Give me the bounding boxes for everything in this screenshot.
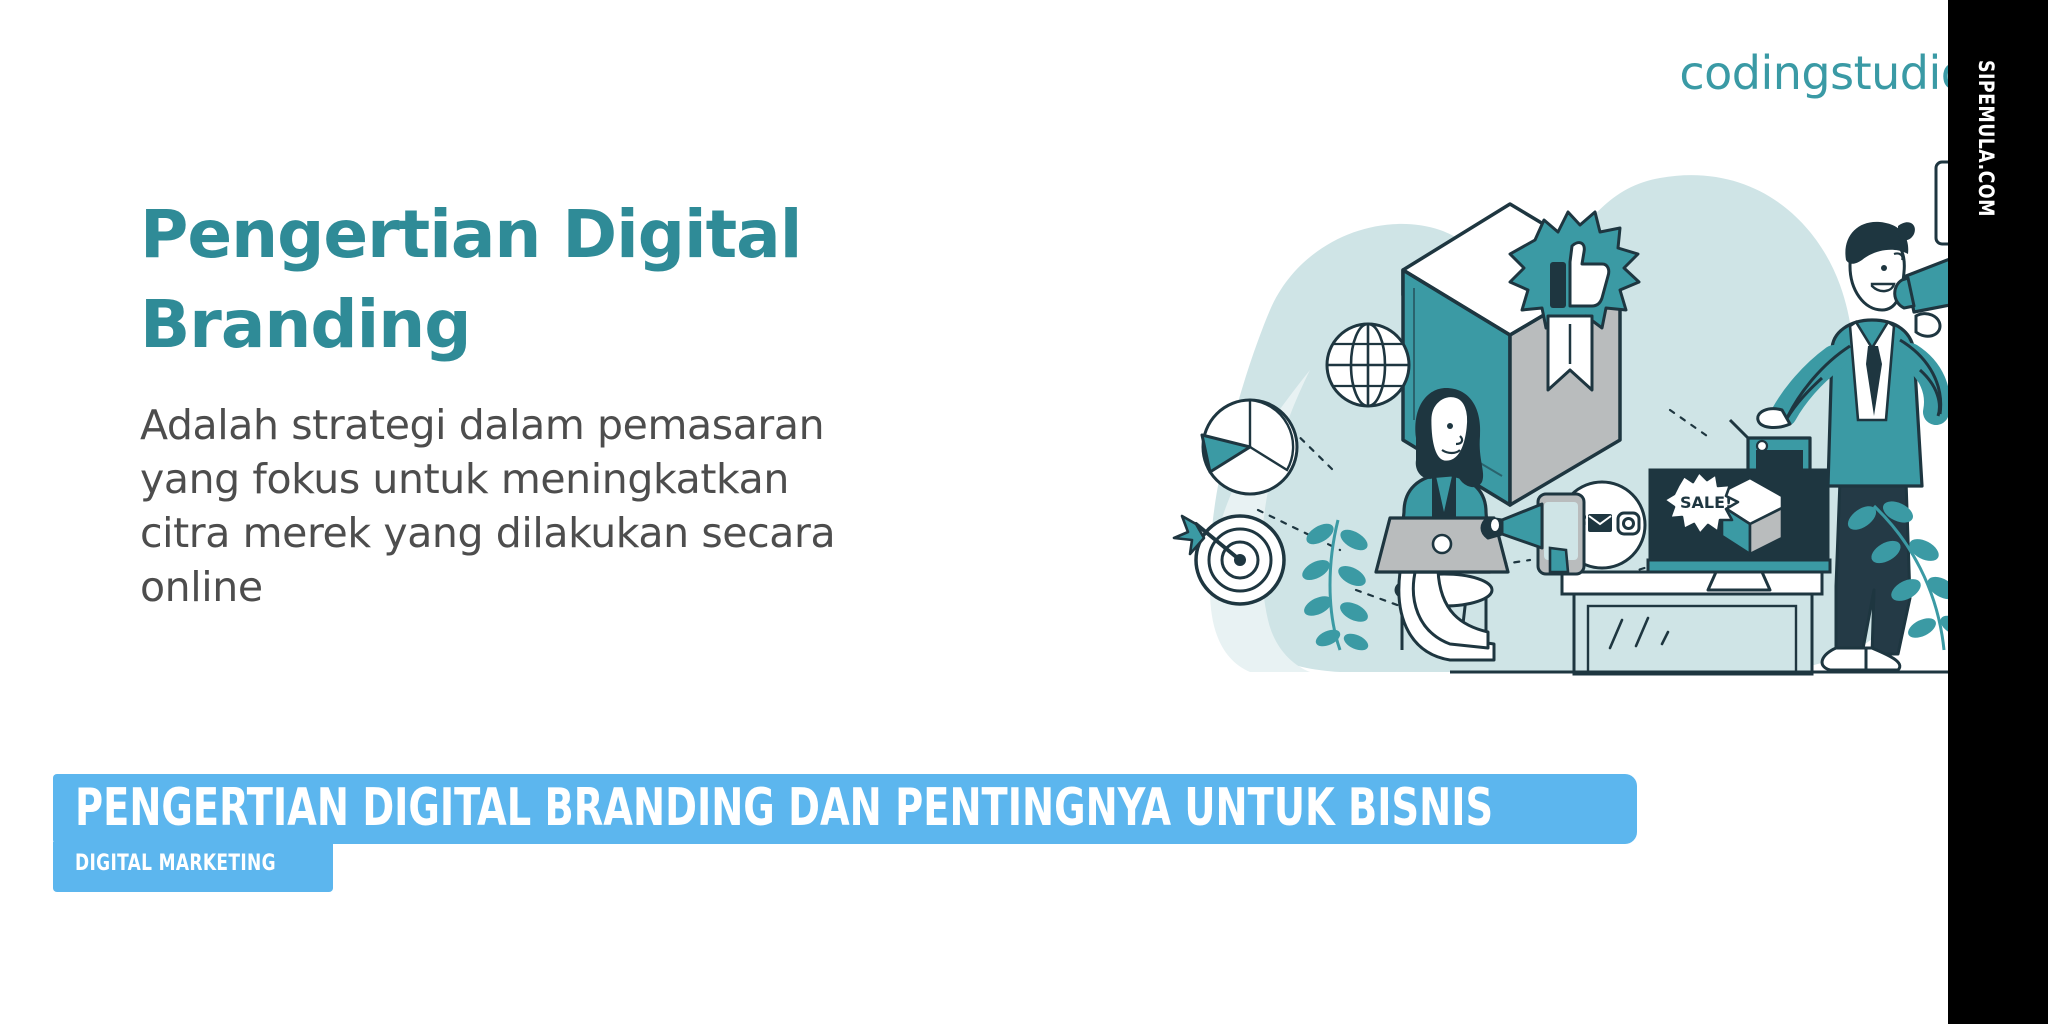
digital-branding-illustration: f (1150, 120, 1948, 680)
desk (1562, 572, 1822, 674)
globe-icon (1327, 324, 1409, 406)
speech-bubble (1936, 162, 1948, 272)
envelope-icon (1588, 514, 1612, 532)
watermark-sidebar: SIPEMULA.COM (1948, 0, 2048, 1024)
category-badge-label: DIGITAL MARKETING (75, 851, 276, 876)
screenshot-root: codingstudio.i (0, 0, 2048, 1024)
pie-chart-icon (1202, 400, 1297, 494)
overlay-caption-group: PENGERTIAN DIGITAL BRANDING DAN PENTINGN… (53, 774, 1637, 892)
category-badge[interactable]: DIGITAL MARKETING (53, 842, 333, 892)
codingstudio-logo: codingstudio.i (1679, 46, 1948, 100)
overlay-category-row: DIGITAL MARKETING (53, 844, 1637, 892)
sale-badge-label: SALE! (1680, 493, 1732, 512)
watermark-text: SIPEMULA.COM (1974, 60, 1998, 217)
hero-copy-block: Pengertian Digital Branding Adalah strat… (140, 190, 840, 614)
target-icon (1174, 516, 1284, 604)
overlay-title-bar[interactable]: PENGERTIAN DIGITAL BRANDING DAN PENTINGN… (53, 774, 1637, 844)
overlay-title-text: PENGERTIAN DIGITAL BRANDING DAN PENTINGN… (75, 782, 1338, 834)
monitor-with-sale: SALE! (1648, 470, 1830, 590)
hero-description: Adalah strategi dalam pemasaran yang fok… (140, 398, 840, 614)
page-title: Pengertian Digital Branding (140, 190, 840, 370)
